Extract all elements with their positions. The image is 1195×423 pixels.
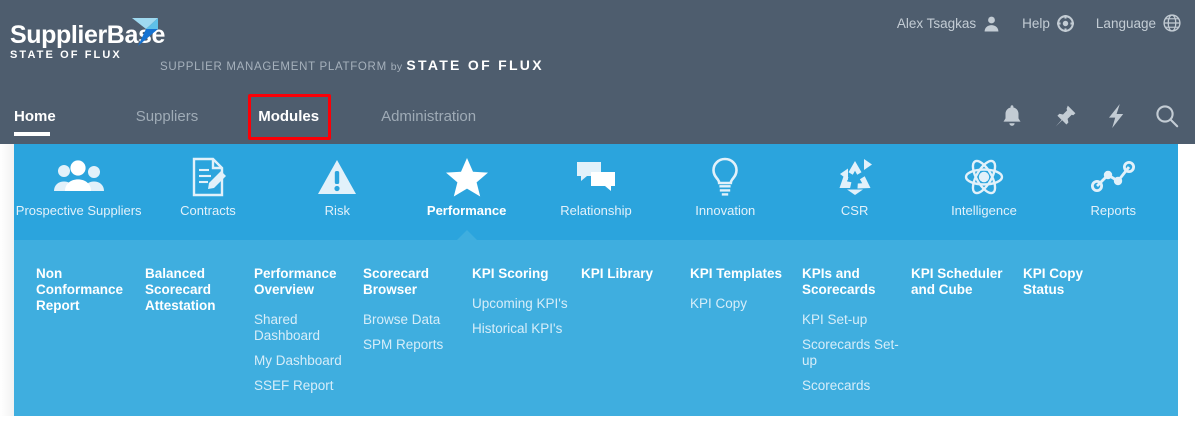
atom-icon xyxy=(964,156,1004,198)
search-icon[interactable] xyxy=(1155,104,1179,128)
module-label: Innovation xyxy=(695,203,755,218)
module-risk[interactable]: Risk xyxy=(273,144,402,240)
submenu-link-historical-kpis[interactable]: Historical KPI's xyxy=(472,321,581,337)
recycle-icon xyxy=(835,156,875,198)
panel-left-shadow xyxy=(0,144,14,416)
submenu-heading[interactable]: Balanced Scorecard Attestation xyxy=(145,266,254,314)
submenu-column-kpi-templates: KPI Templates KPI Copy xyxy=(690,266,802,416)
submenu-heading[interactable]: KPIs and Scorecards xyxy=(802,266,911,298)
module-label: Intelligence xyxy=(951,203,1017,218)
module-label: CSR xyxy=(841,203,868,218)
platform-tagline: SUPPLIER MANAGEMENT PLATFORM by STATE OF… xyxy=(160,57,544,73)
lifebuoy-icon xyxy=(1057,15,1074,32)
module-innovation[interactable]: Innovation xyxy=(661,144,790,240)
flux-arrow-icon xyxy=(130,16,160,48)
document-edit-icon xyxy=(190,156,226,198)
submenu-link-scorecards-set-up[interactable]: Scorecards Set-up xyxy=(802,337,911,369)
submenu-column-kpis-and-scorecards: KPIs and Scorecards KPI Set-up Scorecard… xyxy=(802,266,911,416)
nav-tab-modules[interactable]: Modules xyxy=(244,88,333,144)
submenu-link-shared-dashboard[interactable]: Shared Dashboard xyxy=(254,312,363,344)
submenu-column-non-conformance-report: Non Conformance Report xyxy=(36,266,145,416)
help-label: Help xyxy=(1022,16,1050,31)
module-relationship[interactable]: Relationship xyxy=(531,144,660,240)
submenu-heading[interactable]: KPI Scheduler and Cube xyxy=(911,266,1023,298)
bell-icon[interactable] xyxy=(1001,104,1023,128)
pin-icon[interactable] xyxy=(1053,104,1077,128)
bolt-icon[interactable] xyxy=(1107,103,1125,129)
module-label: Risk xyxy=(325,203,350,218)
submenu-column-kpi-scheduler-and-cube: KPI Scheduler and Cube xyxy=(911,266,1023,416)
nav-tab-suppliers[interactable]: Suppliers xyxy=(122,88,213,144)
tagline-by: by xyxy=(391,61,403,73)
performance-submenu-panel: Non Conformance Report Balanced Scorecar… xyxy=(14,240,1178,416)
chat-bubbles-icon xyxy=(575,156,617,198)
submenu-column-kpi-scoring: KPI Scoring Upcoming KPI's Historical KP… xyxy=(472,266,581,416)
submenu-heading[interactable]: KPI Copy Status xyxy=(1023,266,1132,298)
nav-tab-home[interactable]: Home xyxy=(0,88,70,144)
module-performance[interactable]: Performance xyxy=(402,144,531,240)
module-label: Prospective Suppliers xyxy=(16,203,142,218)
people-icon xyxy=(54,156,104,198)
language-menu[interactable]: Language xyxy=(1096,14,1181,32)
header-utility-bar: Alex Tsagkas Help Language xyxy=(897,14,1181,32)
nav-action-icons xyxy=(1001,88,1179,144)
nav-tab-list: Home Suppliers Modules Administration xyxy=(0,88,490,144)
lightbulb-icon xyxy=(710,156,740,198)
submenu-link-ssef-report[interactable]: SSEF Report xyxy=(254,378,363,394)
user-icon xyxy=(983,15,1000,32)
brand-logo[interactable]: SupplierBase STATE OF FLUX xyxy=(10,22,160,62)
module-list: Prospective Suppliers Contracts xyxy=(14,144,1178,240)
tagline-company: STATE OF FLUX xyxy=(406,57,543,73)
submenu-column-performance-overview: Performance Overview Shared Dashboard My… xyxy=(254,266,363,416)
submenu-heading[interactable]: Non Conformance Report xyxy=(36,266,145,314)
globe-icon xyxy=(1163,14,1181,32)
warning-triangle-icon xyxy=(317,156,357,198)
submenu-heading[interactable]: Performance Overview xyxy=(254,266,363,298)
submenu-column-balanced-scorecard-attestation: Balanced Scorecard Attestation xyxy=(145,266,254,416)
module-prospective-suppliers[interactable]: Prospective Suppliers xyxy=(14,144,143,240)
user-name-label: Alex Tsagkas xyxy=(897,16,976,31)
module-label: Reports xyxy=(1091,203,1137,218)
nav-tab-administration-label: Administration xyxy=(381,108,476,125)
submenu-heading[interactable]: Scorecard Browser xyxy=(363,266,472,298)
tagline-main: SUPPLIER MANAGEMENT PLATFORM xyxy=(160,61,387,73)
nav-tab-suppliers-label: Suppliers xyxy=(136,108,199,125)
nav-tab-administration[interactable]: Administration xyxy=(367,88,490,144)
module-csr[interactable]: CSR xyxy=(790,144,919,240)
submenu-column-kpi-copy-status: KPI Copy Status xyxy=(1023,266,1132,416)
module-reports[interactable]: Reports xyxy=(1049,144,1178,240)
supplierbase-application: SupplierBase STATE OF FLUX SUPPLIER MANA… xyxy=(0,0,1195,423)
submenu-column-kpi-library: KPI Library xyxy=(581,266,690,416)
submenu-columns: Non Conformance Report Balanced Scorecar… xyxy=(14,266,1178,416)
main-navigation-bar: Home Suppliers Modules Administration xyxy=(0,88,1195,144)
submenu-link-my-dashboard[interactable]: My Dashboard xyxy=(254,353,363,369)
brand-subtitle: STATE OF FLUX xyxy=(10,49,160,62)
language-label: Language xyxy=(1096,16,1156,31)
submenu-column-scorecard-browser: Scorecard Browser Browse Data SPM Report… xyxy=(363,266,472,416)
nav-tab-modules-label: Modules xyxy=(258,108,319,125)
submenu-heading[interactable]: KPI Scoring xyxy=(472,266,581,282)
module-label: Contracts xyxy=(180,203,236,218)
nav-tab-home-label: Home xyxy=(14,108,56,125)
line-chart-icon xyxy=(1091,156,1135,198)
submenu-link-upcoming-kpis[interactable]: Upcoming KPI's xyxy=(472,296,581,312)
help-menu[interactable]: Help xyxy=(1022,15,1074,32)
module-label: Relationship xyxy=(560,203,632,218)
submenu-heading[interactable]: KPI Templates xyxy=(690,266,802,282)
submenu-link-kpi-set-up[interactable]: KPI Set-up xyxy=(802,312,911,328)
module-contracts[interactable]: Contracts xyxy=(143,144,272,240)
submenu-link-scorecards[interactable]: Scorecards xyxy=(802,378,911,394)
submenu-link-browse-data[interactable]: Browse Data xyxy=(363,312,472,328)
module-intelligence[interactable]: Intelligence xyxy=(919,144,1048,240)
star-icon xyxy=(446,156,488,198)
submenu-link-kpi-copy[interactable]: KPI Copy xyxy=(690,296,802,312)
user-account-menu[interactable]: Alex Tsagkas xyxy=(897,15,1000,32)
top-header: SupplierBase STATE OF FLUX SUPPLIER MANA… xyxy=(0,0,1195,88)
submenu-heading[interactable]: KPI Library xyxy=(581,266,690,282)
submenu-link-spm-reports[interactable]: SPM Reports xyxy=(363,337,472,353)
module-label: Performance xyxy=(427,203,506,218)
module-strip: Prospective Suppliers Contracts xyxy=(14,144,1178,240)
